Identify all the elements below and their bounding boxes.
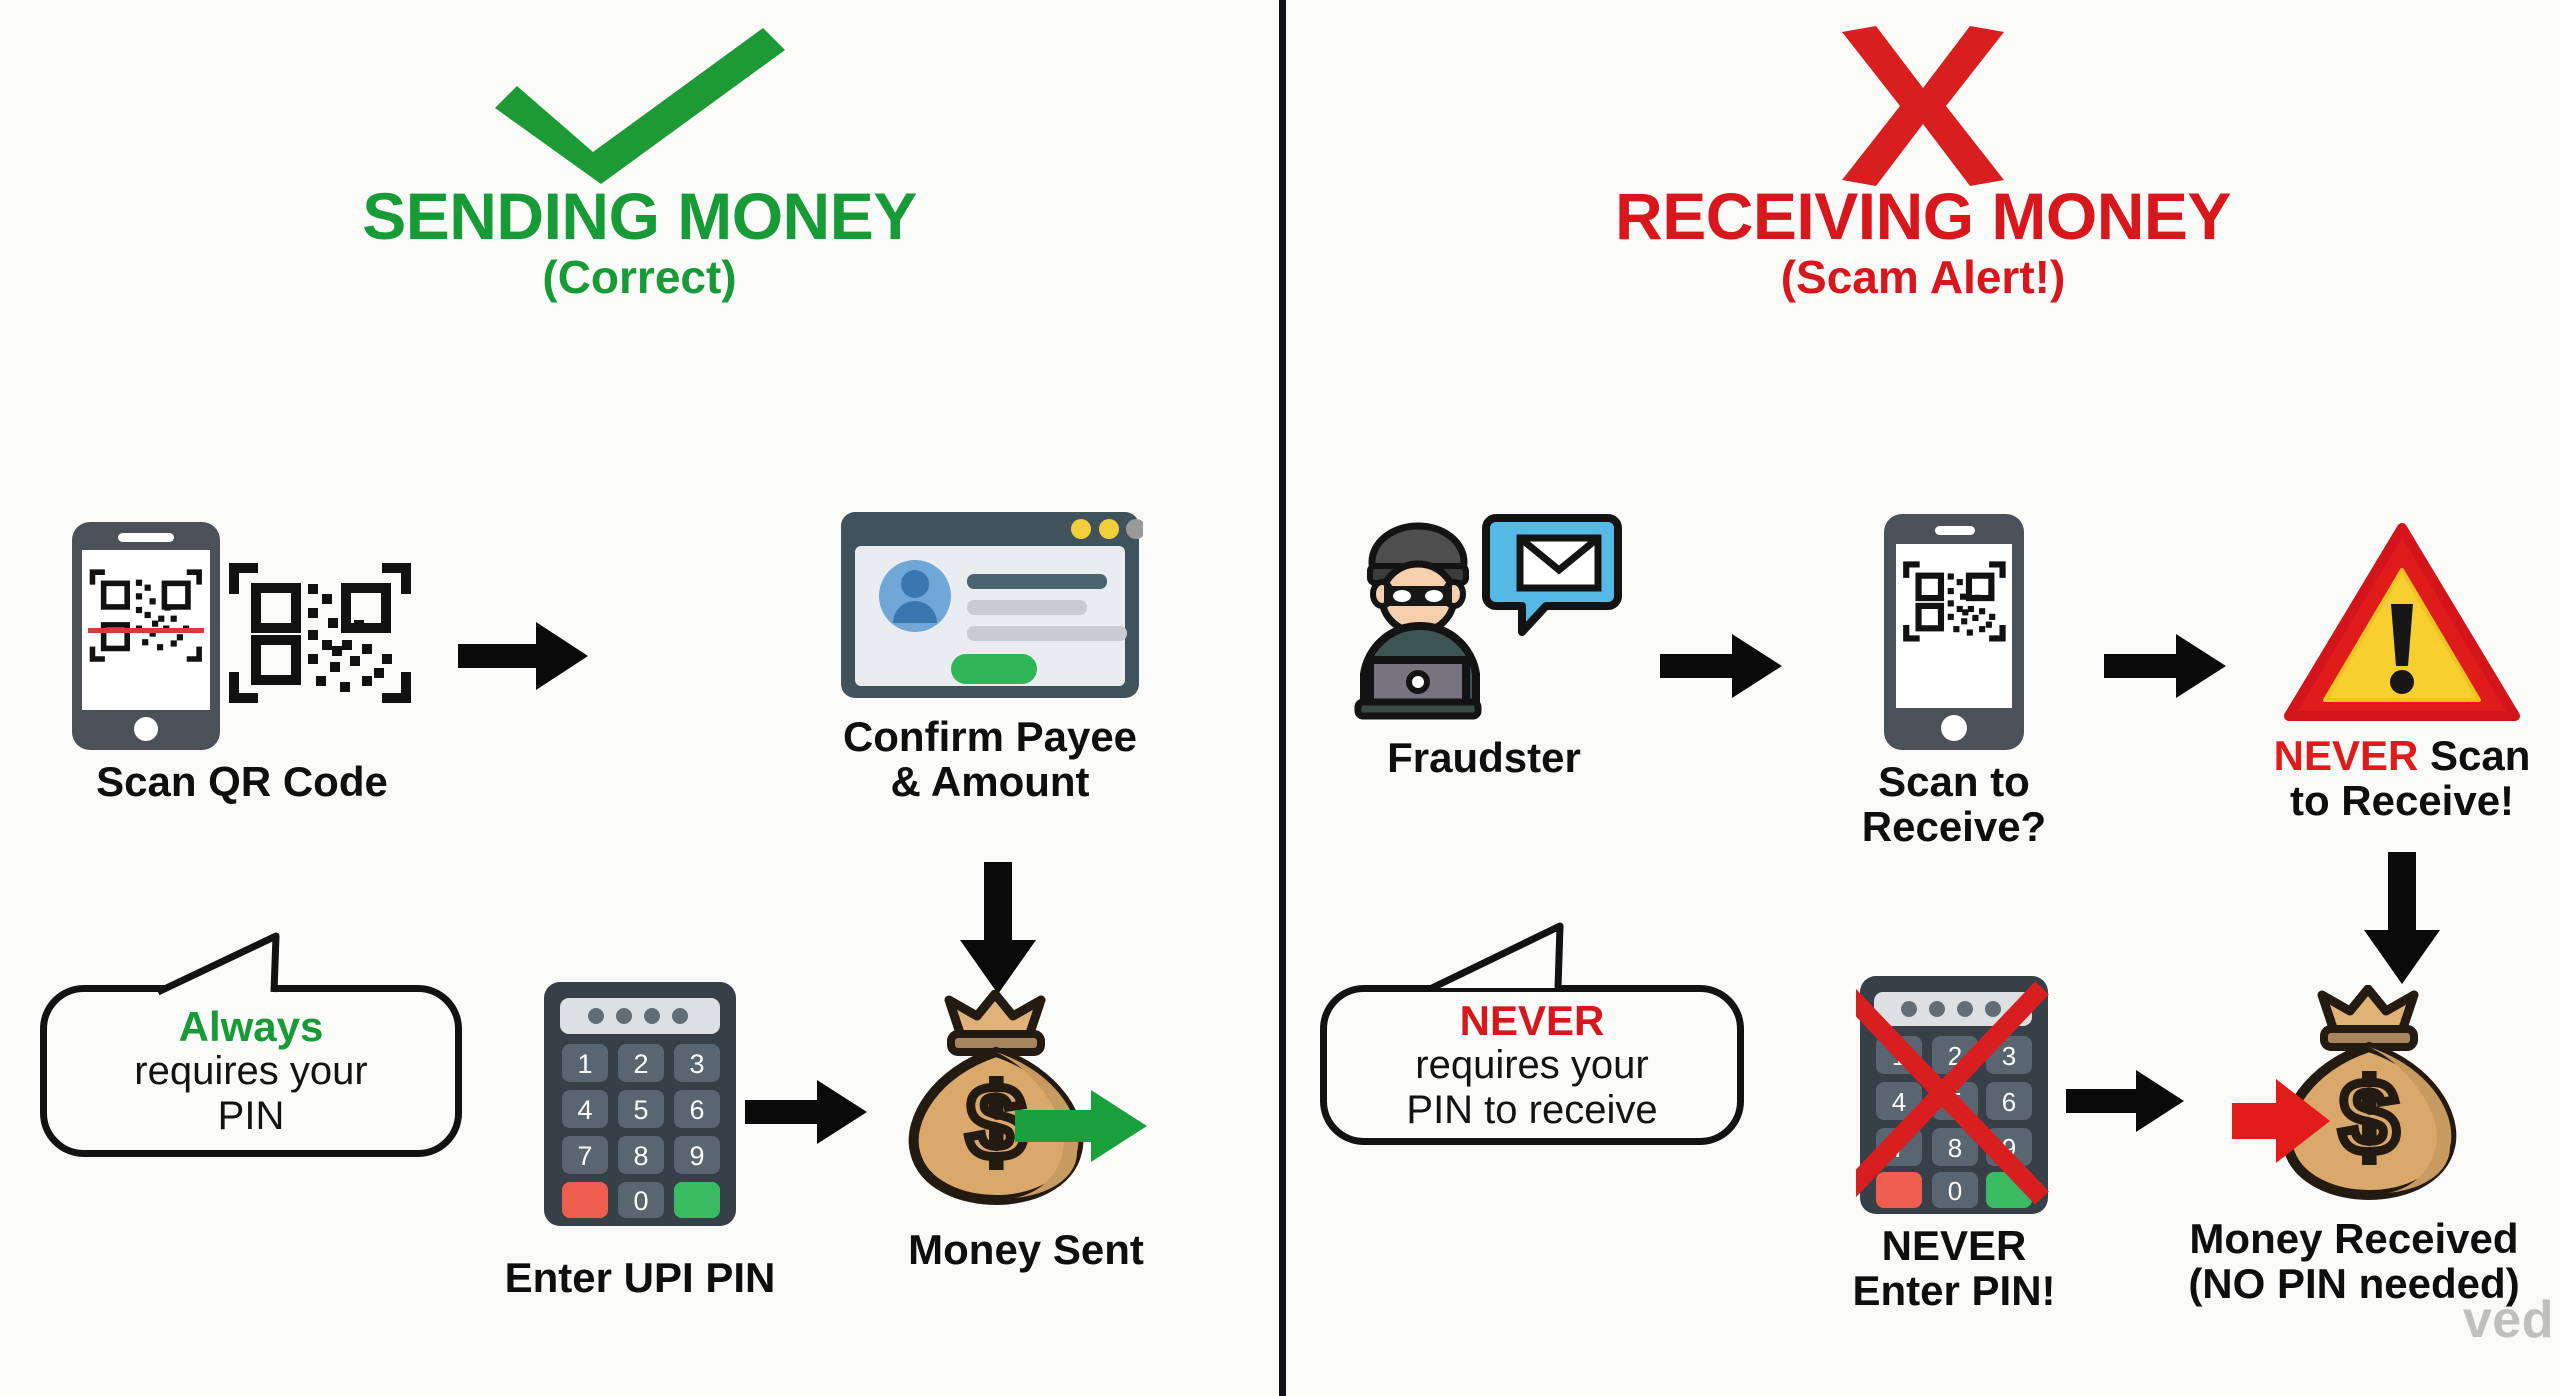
speech-bubble-tail: [1424, 922, 1654, 997]
svg-text:1: 1: [577, 1049, 592, 1079]
node-scan-to-receive-caption-1: Scan to: [1824, 760, 2084, 805]
node-fraudster: Fraudster: [1334, 512, 1634, 781]
svg-text:4: 4: [1892, 1087, 1906, 1117]
money-bag-green-arrow-icon: $: [876, 990, 1176, 1212]
svg-text:4: 4: [577, 1095, 592, 1125]
money-bag-red-arrow-icon: $: [2174, 985, 2534, 1209]
node-scan-qr: Scan QR Code: [62, 520, 422, 805]
node-scan-to-receive-caption-2: Receive?: [1824, 805, 2084, 850]
phone-qr-icon: [1824, 512, 2084, 752]
node-never-enter-pin-caption-2: Enter PIN!: [1814, 1269, 2094, 1314]
svg-text:8: 8: [633, 1141, 648, 1171]
right-title: RECEIVING MONEY: [1286, 178, 2560, 254]
svg-text:5: 5: [633, 1095, 648, 1125]
svg-text:0: 0: [1948, 1176, 1962, 1206]
left-title: SENDING MONEY: [0, 178, 1279, 254]
bubble-emphasis: NEVER: [1460, 998, 1605, 1043]
svg-text:2: 2: [633, 1049, 648, 1079]
node-never-scan-caption-1: NEVER Scan: [2252, 734, 2552, 779]
arrow-right-icon: [2104, 632, 2226, 705]
node-never-enter-pin: 123 456 789 0 NEVER Enter PIN!: [1814, 972, 2094, 1313]
node-confirm-payee: Confirm Payee & Amount: [830, 508, 1150, 804]
speech-bubble-never: NEVER requires your PIN to receive: [1320, 985, 1744, 1145]
svg-text:0: 0: [633, 1186, 648, 1216]
never-rest: Scan: [2418, 732, 2530, 779]
right-panel-receiving-money: RECEIVING MONEY (Scam Alert!): [1286, 0, 2560, 1396]
panel-divider: [1279, 0, 1286, 1396]
node-money-sent-caption: Money Sent: [876, 1228, 1176, 1273]
infographic-canvas: SENDING MONEY (Correct): [0, 0, 2560, 1396]
bubble-line2: requires your: [134, 1049, 367, 1094]
never-emphasis: NEVER: [2274, 732, 2419, 779]
arrow-down-icon: [2364, 852, 2440, 989]
bubble-emphasis: Always: [179, 1004, 324, 1049]
svg-text:$: $: [2340, 1060, 2398, 1176]
pin-keypad-crossed-icon: 123 456 789 0: [1814, 972, 2094, 1218]
browser-window-icon: [830, 508, 1150, 707]
right-subtitle: (Scam Alert!): [1286, 250, 2560, 304]
svg-text:7: 7: [577, 1141, 592, 1171]
green-check-icon: [475, 20, 805, 195]
node-enter-upi-pin-caption: Enter UPI PIN: [490, 1256, 790, 1301]
arrow-right-icon: [458, 620, 588, 697]
svg-text:6: 6: [2002, 1087, 2016, 1117]
node-never-scan: NEVER Scan to Receive!: [2252, 518, 2552, 823]
node-money-received-caption-2: (NO PIN needed): [2174, 1262, 2534, 1307]
svg-text:3: 3: [689, 1049, 704, 1079]
speech-bubble-tail: [148, 930, 358, 1001]
svg-text:8: 8: [1948, 1133, 1962, 1163]
node-scan-qr-caption: Scan QR Code: [62, 760, 422, 805]
arrow-right-icon: [2066, 1068, 2184, 1139]
arrow-down-icon: [960, 862, 1036, 999]
phone-qr-scan-icon: [62, 520, 422, 752]
left-subtitle: (Correct): [0, 250, 1279, 304]
svg-text:3: 3: [2002, 1041, 2016, 1071]
node-confirm-payee-caption-2: & Amount: [830, 760, 1150, 805]
svg-text:6: 6: [689, 1095, 704, 1125]
node-never-enter-pin-caption-1: NEVER: [1814, 1224, 2094, 1269]
node-fraudster-caption: Fraudster: [1334, 736, 1634, 781]
arrow-right-icon: [1660, 632, 1782, 705]
speech-bubble-always: Always requires your PIN: [40, 985, 462, 1157]
svg-text:9: 9: [689, 1141, 704, 1171]
left-panel-sending-money: SENDING MONEY (Correct): [0, 0, 1279, 1396]
bubble-line3: PIN: [218, 1094, 285, 1139]
node-never-scan-caption-2: to Receive!: [2252, 779, 2552, 824]
fraudster-laptop-icon: [1334, 512, 1634, 722]
node-confirm-payee-caption-1: Confirm Payee: [830, 715, 1150, 760]
node-money-sent: $ Money Sent: [876, 990, 1176, 1273]
bubble-line3: PIN to receive: [1406, 1088, 1657, 1133]
warning-triangle-icon: [2252, 518, 2552, 726]
arrow-right-icon: [745, 1078, 867, 1151]
red-cross-icon: [1828, 26, 2018, 191]
node-money-received-caption-1: Money Received: [2174, 1217, 2534, 1262]
bubble-line2: requires your: [1415, 1043, 1648, 1088]
node-scan-to-receive: Scan to Receive?: [1824, 512, 2084, 849]
node-money-received: $ Money Received (NO PIN needed): [2174, 985, 2534, 1306]
